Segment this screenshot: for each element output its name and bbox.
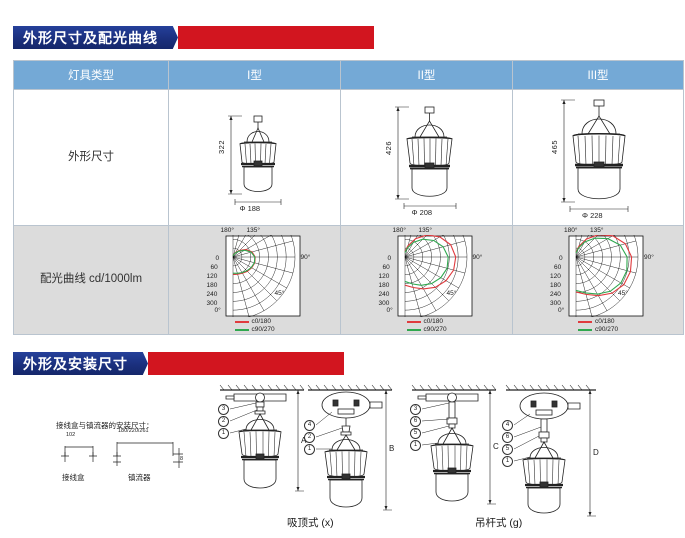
callout-4d: 4	[502, 420, 513, 431]
legend-item-c0-180: c0/180	[578, 318, 618, 325]
row-label-photometric-text: 配光曲线	[40, 273, 86, 285]
polar-radial-tick-240: 240	[207, 291, 218, 298]
junction-box-dim: 102	[66, 432, 75, 438]
polar-radial-tick-0: 0	[216, 255, 220, 262]
polar-chart-1: 180°135°90°45°0°060120180240300c0/180c90…	[199, 227, 311, 333]
polar-angle-label-0: 180°	[221, 227, 234, 234]
polar-radial-tick-120: 120	[550, 273, 561, 280]
polar-plot-svg-2	[397, 235, 473, 317]
callout-6d: 6	[502, 432, 513, 443]
polar-radial-tick-60: 60	[554, 264, 561, 271]
dim-letter-b: B	[389, 444, 394, 453]
callout-2: 2	[218, 416, 229, 427]
lamp-svg-1	[195, 98, 315, 218]
mount-figure-2: 4 2 1 B	[300, 378, 415, 530]
polar-radial-tick-180: 180	[207, 282, 218, 289]
banner-red-bar	[178, 26, 374, 49]
polar-radial-tick-180: 180	[550, 282, 561, 289]
lamp-svg-2	[364, 95, 490, 221]
callout-2b: 2	[304, 432, 315, 443]
polar-radial-tick-60: 60	[211, 264, 218, 271]
lamp-3-diameter: Φ 228	[582, 211, 603, 220]
lamp-svg-3	[532, 92, 664, 224]
lamp-3-height: 465	[550, 140, 559, 154]
polar-radial-tick-0: 0	[388, 255, 392, 262]
legend-swatch-icon	[578, 329, 592, 331]
legend-item-c90-270: c90/270	[407, 326, 447, 333]
callout-1d: 1	[502, 456, 513, 467]
polar-radial-tick-240: 240	[550, 291, 561, 298]
callout-3: 3	[218, 404, 229, 415]
callout-1c: 1	[410, 440, 421, 451]
callout-1b: 1	[304, 444, 315, 455]
section-title-dimensions: 外形尺寸及配光曲线	[13, 26, 166, 49]
legend-label: c0/180	[252, 318, 272, 325]
lamp-1-diameter: Φ 188	[240, 204, 261, 213]
polar-angle-label-3: 45°	[618, 290, 628, 297]
row-label-outline: 外形尺寸	[14, 90, 169, 226]
polar-angle-label-0: 180°	[393, 227, 406, 234]
polar-angle-label-4: 0°	[215, 307, 221, 314]
polar-angle-label-3: 45°	[447, 290, 457, 297]
junction-ballast-dimension-svg	[55, 434, 195, 474]
caption-ceiling-mount: 吸顶式 (x)	[287, 515, 334, 530]
polar-angle-label-2: 90°	[301, 254, 311, 261]
polar-angle-label-1: 135°	[590, 227, 603, 234]
caption-rod-mount: 吊杆式 (g)	[475, 515, 522, 530]
legend-label: c0/180	[424, 318, 444, 325]
cell-lamp-1: 322 Φ 188	[169, 90, 341, 226]
cell-polar-2: 180°135°90°45°0°060120180240300c0/180c90…	[341, 226, 513, 335]
lamp-1-height: 322	[217, 140, 226, 154]
legend-label: c90/270	[424, 326, 447, 333]
polar-chart-3: 180°135°90°45°0°060120180240300c0/180c90…	[542, 227, 654, 333]
legend-swatch-icon	[407, 329, 421, 331]
polar-plot-svg-1	[225, 235, 301, 317]
polar-legend-2: c0/180c90/270	[407, 317, 447, 333]
table-row-outline-dimensions: 外形尺寸	[14, 90, 684, 226]
lamp-drawing-1: 322 Φ 188	[195, 98, 315, 218]
th-type-2: II型	[341, 61, 513, 90]
polar-legend-1: c0/180c90/270	[235, 317, 275, 333]
lamp-drawing-2: 426 Φ 208	[364, 95, 490, 221]
dim-letter-d: D	[593, 448, 599, 457]
polar-radial-tick-300: 300	[550, 300, 561, 307]
row-label-outline-text: 外形尺寸	[68, 151, 114, 163]
polar-angle-label-4: 0°	[558, 307, 564, 314]
spec-table: 灯具类型 I型 II型 III型 外形尺寸	[13, 60, 684, 335]
polar-radial-tick-0: 0	[559, 255, 563, 262]
callout-6c: 6	[410, 416, 421, 427]
polar-radial-tick-60: 60	[383, 264, 390, 271]
legend-swatch-icon	[407, 321, 421, 323]
mount-figure-4-svg	[498, 378, 618, 530]
row-label-photometric: 配光曲线 cd/1000lm	[14, 226, 169, 335]
polar-angle-label-3: 45°	[275, 290, 285, 297]
polar-angle-label-1: 135°	[419, 227, 432, 234]
polar-radial-tick-180: 180	[379, 282, 390, 289]
cell-lamp-3: 465 Φ 228	[513, 90, 684, 226]
callout-5c: 5	[410, 428, 421, 439]
polar-radial-tick-120: 120	[207, 273, 218, 280]
polar-plot-svg-3	[568, 235, 644, 317]
legend-label: c90/270	[252, 326, 275, 333]
legend-item-c0-180: c0/180	[235, 318, 275, 325]
table-row-photometric-curve: 配光曲线 cd/1000lm 180°135°90°45°0°060120180…	[14, 226, 684, 335]
table-header-row: 灯具类型 I型 II型 III型	[14, 61, 684, 90]
polar-angle-label-4: 0°	[387, 307, 393, 314]
legend-label: c90/270	[595, 326, 618, 333]
legend-item-c90-270: c90/270	[235, 326, 275, 333]
polar-radial-tick-300: 300	[207, 300, 218, 307]
legend-swatch-icon	[578, 321, 592, 323]
cell-polar-1: 180°135°90°45°0°060120180240300c0/180c90…	[169, 226, 341, 335]
row-label-photometric-unit: cd/1000lm	[89, 273, 142, 285]
junction-box-label: 接线盒	[62, 472, 85, 483]
polar-legend-3: c0/180c90/270	[578, 317, 618, 333]
polar-angle-label-0: 180°	[564, 227, 577, 234]
callout-3c: 3	[410, 404, 421, 415]
legend-item-c0-180: c0/180	[407, 318, 447, 325]
polar-radial-tick-120: 120	[379, 273, 390, 280]
lamp-drawing-3: 465 Φ 228	[532, 92, 664, 224]
ballast-dim: 180/220/261	[118, 428, 149, 434]
polar-chart-2: 180°135°90°45°0°060120180240300c0/180c90…	[371, 227, 483, 333]
legend-label: c0/180	[595, 318, 615, 325]
callout-1: 1	[218, 428, 229, 439]
polar-radial-tick-240: 240	[379, 291, 390, 298]
legend-item-c90-270: c90/270	[578, 326, 618, 333]
polar-angle-label-1: 135°	[247, 227, 260, 234]
ballast-side-dim: 8	[180, 456, 183, 462]
lamp-2-diameter: Φ 208	[412, 208, 433, 217]
legend-swatch-icon	[235, 329, 249, 331]
th-lamp-type: 灯具类型	[14, 61, 169, 90]
polar-angle-label-2: 90°	[644, 254, 654, 261]
th-type-3: III型	[513, 61, 684, 90]
cell-lamp-2: 426 Φ 208	[341, 90, 513, 226]
polar-radial-tick-300: 300	[379, 300, 390, 307]
mount-figure-2-svg	[300, 378, 415, 530]
ballast-label: 镇流器	[128, 472, 151, 483]
legend-swatch-icon	[235, 321, 249, 323]
section-banner-dimensions: 外形尺寸及配光曲线	[13, 26, 374, 49]
mounting-diagram-area: 接线盒与镇流器的安装尺寸： 102 180/220/261 8 接线盒 镇流器	[0, 372, 685, 538]
banner-notch-icon	[165, 26, 178, 49]
polar-angle-label-2: 90°	[473, 254, 483, 261]
lamp-2-height: 426	[384, 141, 393, 155]
cell-polar-3: 180°135°90°45°0°060120180240300c0/180c90…	[513, 226, 684, 335]
th-type-1: I型	[169, 61, 341, 90]
mount-figure-4: 4 6 5 1 D	[498, 378, 618, 530]
callout-4: 4	[304, 420, 315, 431]
callout-5d: 5	[502, 444, 513, 455]
